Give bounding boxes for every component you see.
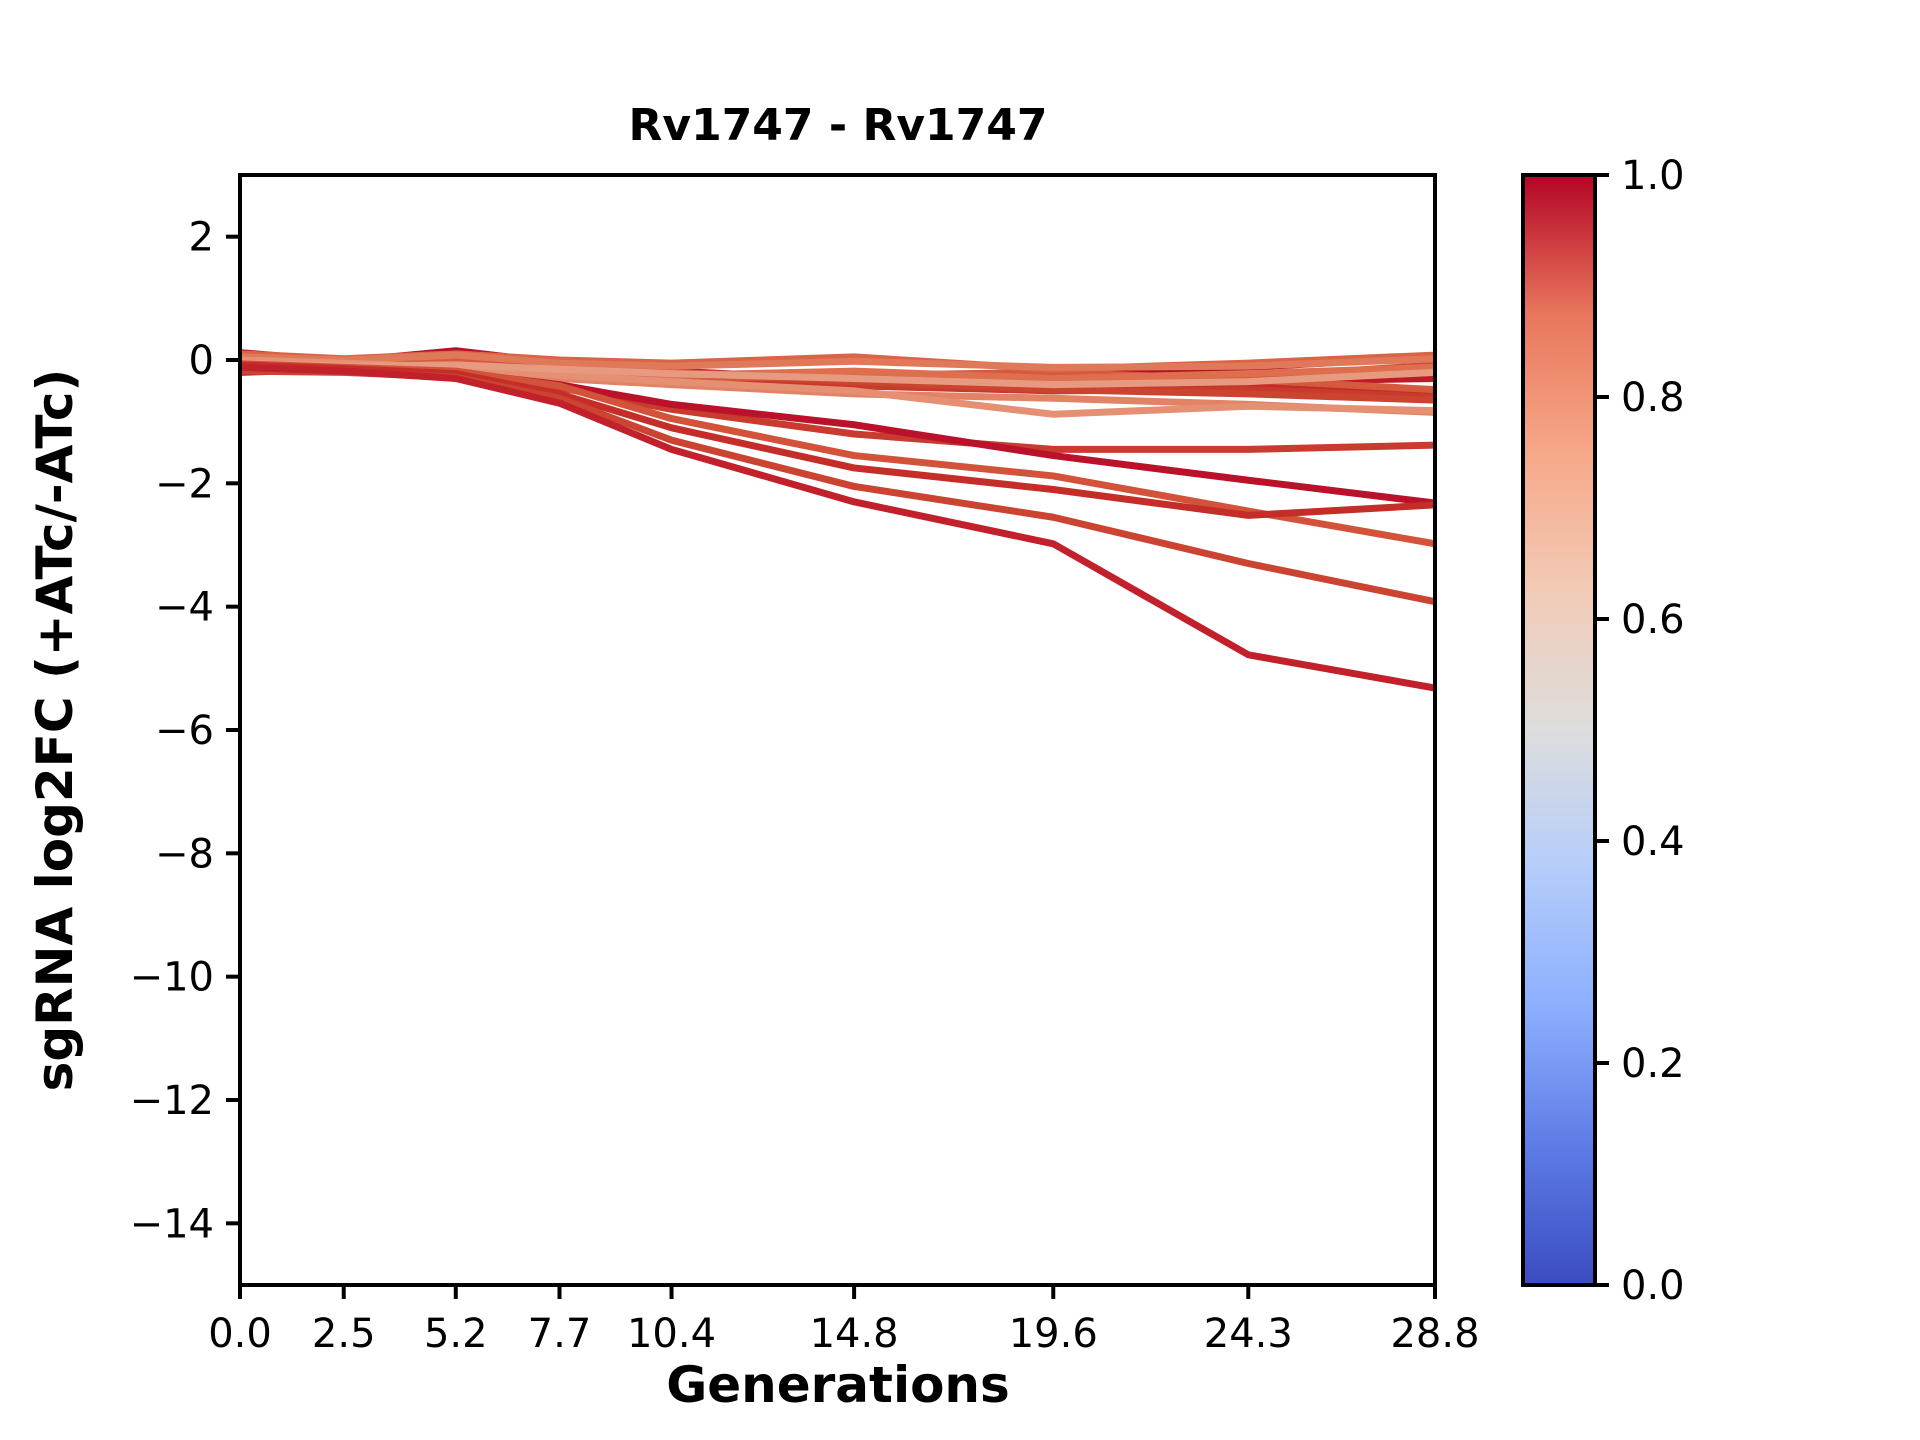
y-tick-label: −14 — [130, 1201, 214, 1247]
figure-root: 0.02.55.27.710.414.819.624.328.8 20−2−4−… — [0, 0, 1920, 1440]
x-tick-label: 0.0 — [208, 1311, 272, 1357]
colorbar-gradient — [1523, 175, 1595, 1285]
y-tick-label: −12 — [130, 1078, 214, 1124]
x-tick-label: 24.3 — [1204, 1311, 1293, 1357]
x-tick-label: 10.4 — [627, 1311, 716, 1357]
colorbar-tick-label: 0.8 — [1621, 375, 1685, 421]
y-tick-label: −4 — [155, 585, 214, 631]
plot-area-background — [240, 175, 1435, 1285]
x-tick-label: 28.8 — [1390, 1311, 1479, 1357]
x-tick-label: 7.7 — [528, 1311, 592, 1357]
y-tick-label: 0 — [189, 338, 214, 384]
x-tick-label: 5.2 — [424, 1311, 488, 1357]
x-tick-label: 14.8 — [810, 1311, 899, 1357]
y-tick-label: −6 — [155, 708, 214, 754]
y-tick-label: −8 — [155, 831, 214, 877]
y-axis-title: sgRNA log2FC (+ATc/-ATc) — [26, 369, 84, 1092]
colorbar-tick-label: 0.4 — [1621, 819, 1685, 865]
y-tick-label: 2 — [189, 215, 214, 261]
x-axis-ticks: 0.02.55.27.710.414.819.624.328.8 — [208, 1285, 1479, 1357]
colorbar-tick-label: 0.6 — [1621, 597, 1685, 643]
colorbar-tick-label: 0.2 — [1621, 1041, 1685, 1087]
x-tick-label: 19.6 — [1009, 1311, 1098, 1357]
y-tick-label: −10 — [130, 955, 214, 1001]
colorbar-tick-label: 1.0 — [1621, 153, 1685, 199]
x-axis-title: Generations — [666, 1356, 1010, 1414]
y-axis-ticks: 20−2−4−6−8−10−12−14 — [130, 215, 240, 1248]
colorbar-tick-label: 0.0 — [1621, 1263, 1685, 1309]
line-chart: 0.02.55.27.710.414.819.624.328.8 20−2−4−… — [0, 0, 1920, 1440]
colorbar-ticks: 0.00.20.40.60.81.0 — [1595, 153, 1685, 1309]
y-tick-label: −2 — [155, 461, 214, 507]
chart-title: Rv1747 - Rv1747 — [629, 100, 1048, 151]
x-tick-label: 2.5 — [312, 1311, 376, 1357]
